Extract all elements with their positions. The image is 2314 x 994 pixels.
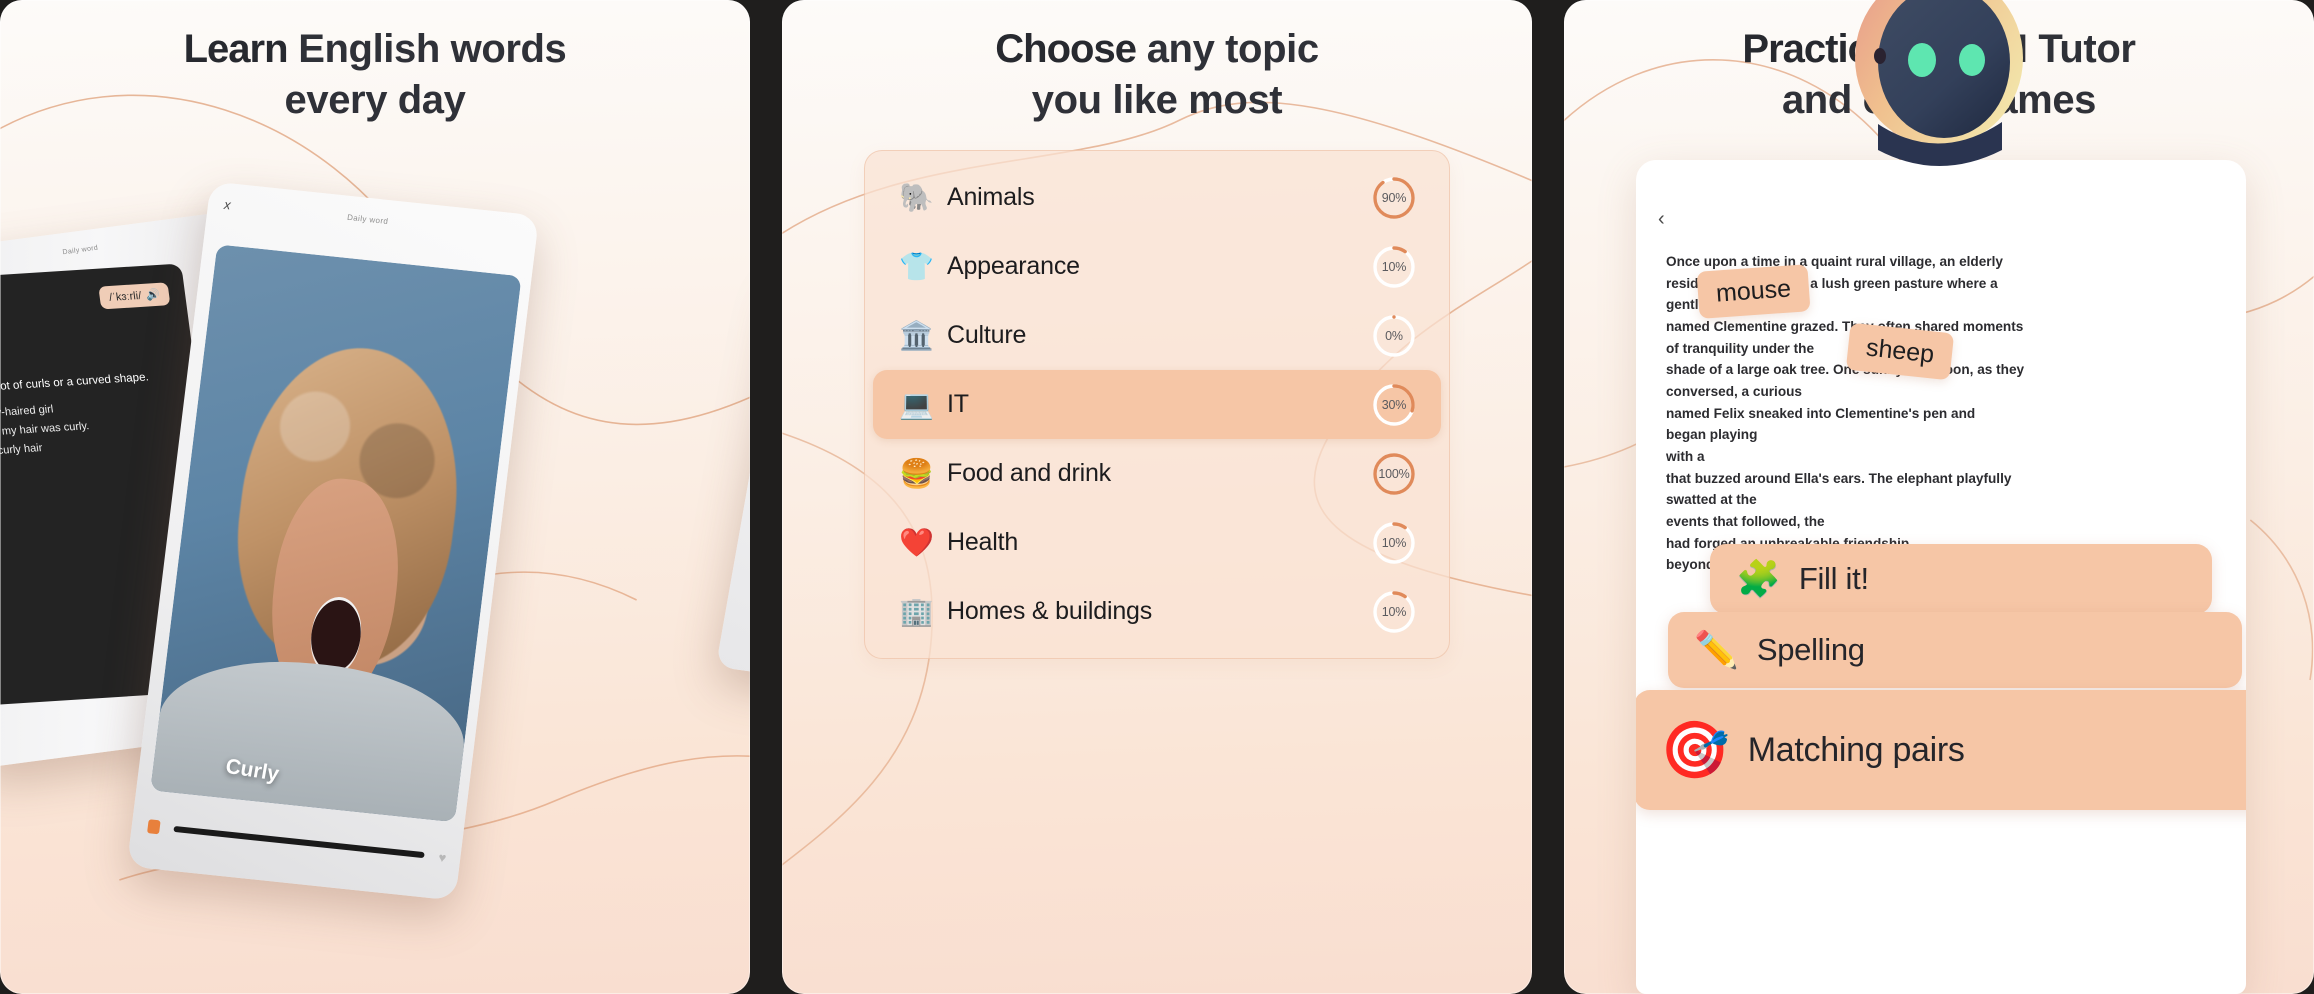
progress-percent: 100% bbox=[1371, 451, 1417, 497]
headline-rest: English words bbox=[288, 27, 567, 71]
headline-rest: any topic bbox=[1136, 27, 1319, 71]
topic-label: Food and drink bbox=[947, 459, 1371, 488]
ai-robot-avatar bbox=[1826, 0, 2052, 168]
topic-row-animals[interactable]: 🐘 Animals 90% bbox=[873, 163, 1441, 232]
topic-row-food-and-drink[interactable]: 🍔 Food and drink 100% bbox=[873, 439, 1441, 508]
phonetic-text: /ˈkɜːrli/ bbox=[108, 289, 142, 303]
topic-row-culture[interactable]: 🏛️ Culture 0% bbox=[873, 301, 1441, 370]
speaker-icon: 🔊 bbox=[145, 288, 160, 302]
headline-bold: Choose bbox=[995, 27, 1136, 71]
heart-outline-icon[interactable]: ♡ bbox=[0, 332, 176, 365]
puzzle-icon: 🧩 bbox=[1736, 561, 1781, 597]
progress-percent: 90% bbox=[1371, 175, 1417, 221]
close-icon[interactable]: x bbox=[223, 197, 231, 213]
example-list: a curly-haired girl i wish my hair was c… bbox=[0, 392, 189, 465]
home-bar bbox=[173, 826, 425, 858]
word-chip-mouse[interactable]: mouse bbox=[1696, 264, 1810, 319]
story-line: began playing bbox=[1666, 425, 2222, 446]
topic-label: Homes & buildings bbox=[947, 597, 1371, 626]
story-line: that buzzed around Ella's ears. The elep… bbox=[1666, 469, 2222, 490]
museum-icon: 🏛️ bbox=[899, 322, 947, 350]
tutor-screen: ‹ Once upon a time in a quaint rural vil… bbox=[1636, 160, 2246, 994]
panel-practice: Practice with AI Tutor and other games ‹… bbox=[1564, 0, 2314, 994]
progress-ring: 10% bbox=[1371, 244, 1417, 290]
tablet-sliver bbox=[716, 273, 750, 684]
story-line: with a bbox=[1666, 447, 2222, 468]
tablet-front-title: Daily word bbox=[347, 213, 389, 226]
story-line: conversed, a curious bbox=[1666, 382, 2222, 403]
story-line: events that followed, the bbox=[1666, 512, 2222, 533]
topic-row-appearance[interactable]: 👕 Appearance 10% bbox=[873, 232, 1441, 301]
topic-row-it[interactable]: 💻 IT 30% bbox=[873, 370, 1441, 439]
topic-label: Health bbox=[947, 528, 1371, 557]
burger-icon: 🍔 bbox=[899, 460, 947, 488]
game-card-fill-it[interactable]: 🧩 Fill it! bbox=[1710, 544, 2212, 614]
topic-label: Appearance bbox=[947, 252, 1371, 281]
progress-percent: 10% bbox=[1371, 520, 1417, 566]
bookmark-icon[interactable] bbox=[147, 819, 161, 834]
laptop-icon: 💻 bbox=[899, 391, 947, 419]
game-card-matching-pairs[interactable]: 🎯 Matching pairs bbox=[1636, 690, 2246, 810]
word-photo bbox=[150, 244, 521, 822]
photo-robe bbox=[150, 648, 472, 822]
progress-ring: 10% bbox=[1371, 520, 1417, 566]
progress-percent: 10% bbox=[1371, 244, 1417, 290]
tshirt-icon: 👕 bbox=[899, 253, 947, 281]
headline-line2: every day bbox=[0, 75, 750, 126]
game-label: Spelling bbox=[1757, 632, 1865, 668]
target-icon: 🎯 bbox=[1660, 722, 1730, 778]
progress-percent: 0% bbox=[1371, 313, 1417, 359]
game-label: Fill it! bbox=[1799, 561, 1869, 597]
progress-ring: 90% bbox=[1371, 175, 1417, 221]
panel-choose: Choose any topic you like most 🐘 Animals… bbox=[782, 0, 1532, 994]
pronunciation-button[interactable]: /ˈkɜːrli/ 🔊 bbox=[99, 282, 171, 309]
topic-row-health[interactable]: ❤️ Health 10% bbox=[873, 508, 1441, 577]
definition-text: Having a lot of curls or a curved shape. bbox=[0, 369, 150, 398]
progress-percent: 10% bbox=[1371, 589, 1417, 635]
headline-bold: Learn bbox=[184, 27, 288, 71]
progress-ring: 0% bbox=[1371, 313, 1417, 359]
topic-list: 🐘 Animals 90% 👕 Appearance bbox=[864, 150, 1450, 659]
panel-learn: Learn English words every day Daily word… bbox=[0, 0, 750, 994]
progress-ring: 100% bbox=[1371, 451, 1417, 497]
game-label: Matching pairs bbox=[1748, 730, 1965, 771]
elephant-icon: 🐘 bbox=[899, 184, 947, 212]
progress-percent: 30% bbox=[1371, 382, 1417, 428]
heartbeat-icon: ❤️ bbox=[899, 529, 947, 557]
topic-label: IT bbox=[947, 390, 1371, 419]
progress-ring: 30% bbox=[1371, 382, 1417, 428]
store-screenshot-gallery: Learn English words every day Daily word… bbox=[0, 0, 2314, 994]
story-line: named Felix sneaked into Clementine's pe… bbox=[1666, 404, 2222, 425]
topic-row-homes-and-buildings[interactable]: 🏢 Homes & buildings 10% bbox=[873, 577, 1441, 646]
page-title: Choose any topic you like most bbox=[782, 24, 1532, 126]
progress-ring: 10% bbox=[1371, 589, 1417, 635]
page-title: Learn English words every day bbox=[0, 24, 750, 126]
topic-label: Animals bbox=[947, 183, 1371, 212]
headline-line2: you like most bbox=[782, 75, 1532, 126]
buildings-icon: 🏢 bbox=[899, 598, 947, 626]
topic-label: Culture bbox=[947, 321, 1371, 350]
story-line: swatted at the bbox=[1666, 490, 2222, 511]
game-card-spelling[interactable]: ✏️ Spelling bbox=[1668, 612, 2242, 688]
pencil-icon: ✏️ bbox=[1694, 632, 1739, 668]
heart-icon[interactable]: ♥ bbox=[438, 849, 448, 865]
chevron-left-icon[interactable]: ‹ bbox=[1658, 208, 1665, 231]
